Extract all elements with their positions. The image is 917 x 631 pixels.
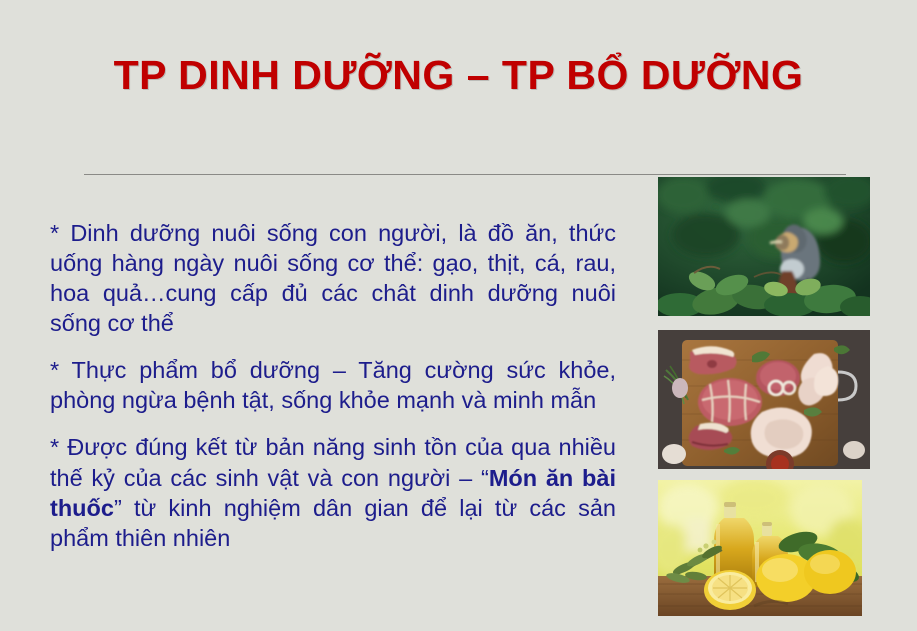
olive-oil-lemons-photo [658, 480, 862, 616]
divider [84, 174, 846, 175]
slide-canvas: TP DINH DƯỠNG – TP BỔ DƯỠNG * Dinh dưỡng… [0, 0, 917, 631]
monkey-in-forest-photo [658, 177, 870, 316]
body-text-column: * Dinh dưỡng nuôi sống con người, là đồ … [50, 218, 616, 553]
raw-meat-board-photo [658, 330, 870, 469]
paragraph-tradition: * Được đúng kết từ bản năng sinh tồn của… [50, 432, 616, 552]
page-title: TP DINH DƯỠNG – TP BỔ DƯỠNG [0, 52, 917, 99]
paragraph-supplement: * Thực phẩm bổ dưỡng – Tăng cường sức kh… [50, 355, 616, 415]
paragraph-tradition-tail: ” từ kinh nghiệm dân gian để lại từ các … [50, 495, 616, 551]
paragraph-nutrition: * Dinh dưỡng nuôi sống con người, là đồ … [50, 218, 616, 338]
